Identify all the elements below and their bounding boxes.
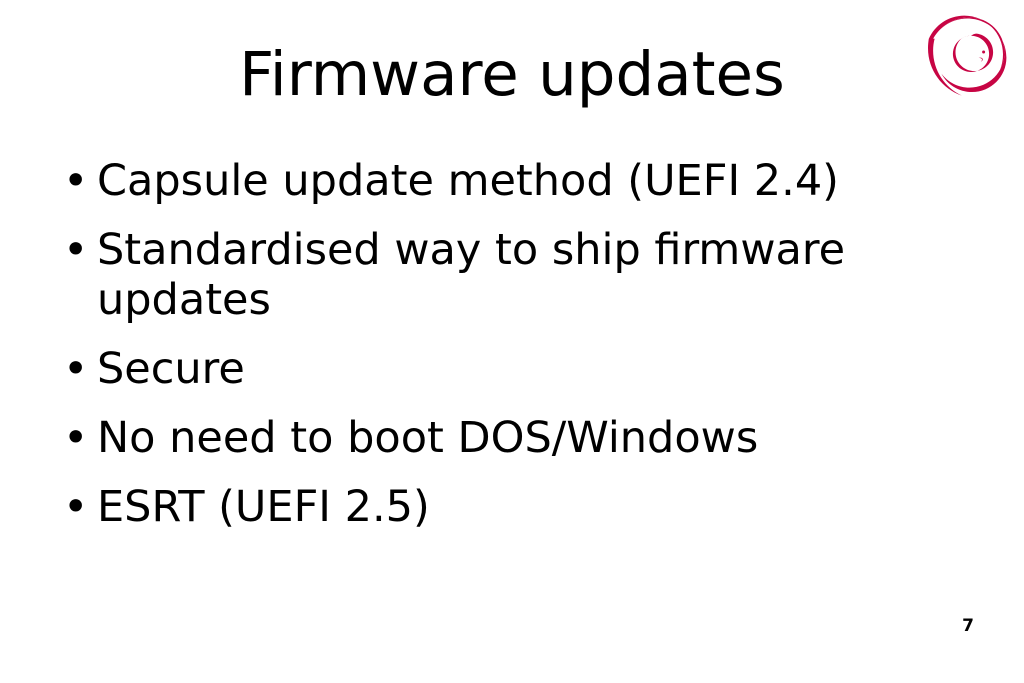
bullet-item: • Capsule update method (UEFI 2.4) bbox=[58, 156, 958, 206]
bullet-marker-icon: • bbox=[63, 482, 83, 532]
bullet-item: • Secure bbox=[58, 344, 958, 394]
bullet-text: No need to boot DOS/Windows bbox=[97, 413, 887, 463]
bullet-marker-icon: • bbox=[63, 156, 83, 206]
page-number: 7 bbox=[940, 616, 996, 636]
presentation-slide: Firmware updates • Capsule update method… bbox=[0, 0, 1024, 683]
bullet-text: Capsule update method (UEFI 2.4) bbox=[97, 156, 887, 206]
bullet-text: Standardised way to ship firmware update… bbox=[97, 225, 887, 325]
bullet-list: • Capsule update method (UEFI 2.4) • Sta… bbox=[58, 156, 958, 532]
bullet-text: Secure bbox=[97, 344, 887, 394]
bullet-marker-icon: • bbox=[63, 344, 83, 394]
bullet-text: ESRT (UEFI 2.5) bbox=[97, 482, 887, 532]
bullet-item: • No need to boot DOS/Windows bbox=[58, 413, 958, 463]
bullet-item: • ESRT (UEFI 2.5) bbox=[58, 482, 958, 532]
slide-title: Firmware updates bbox=[0, 42, 1024, 108]
bullet-marker-icon: • bbox=[63, 413, 83, 463]
bullet-item: • Standardised way to ship firmware upda… bbox=[58, 225, 958, 325]
bullet-marker-icon: • bbox=[63, 225, 83, 275]
